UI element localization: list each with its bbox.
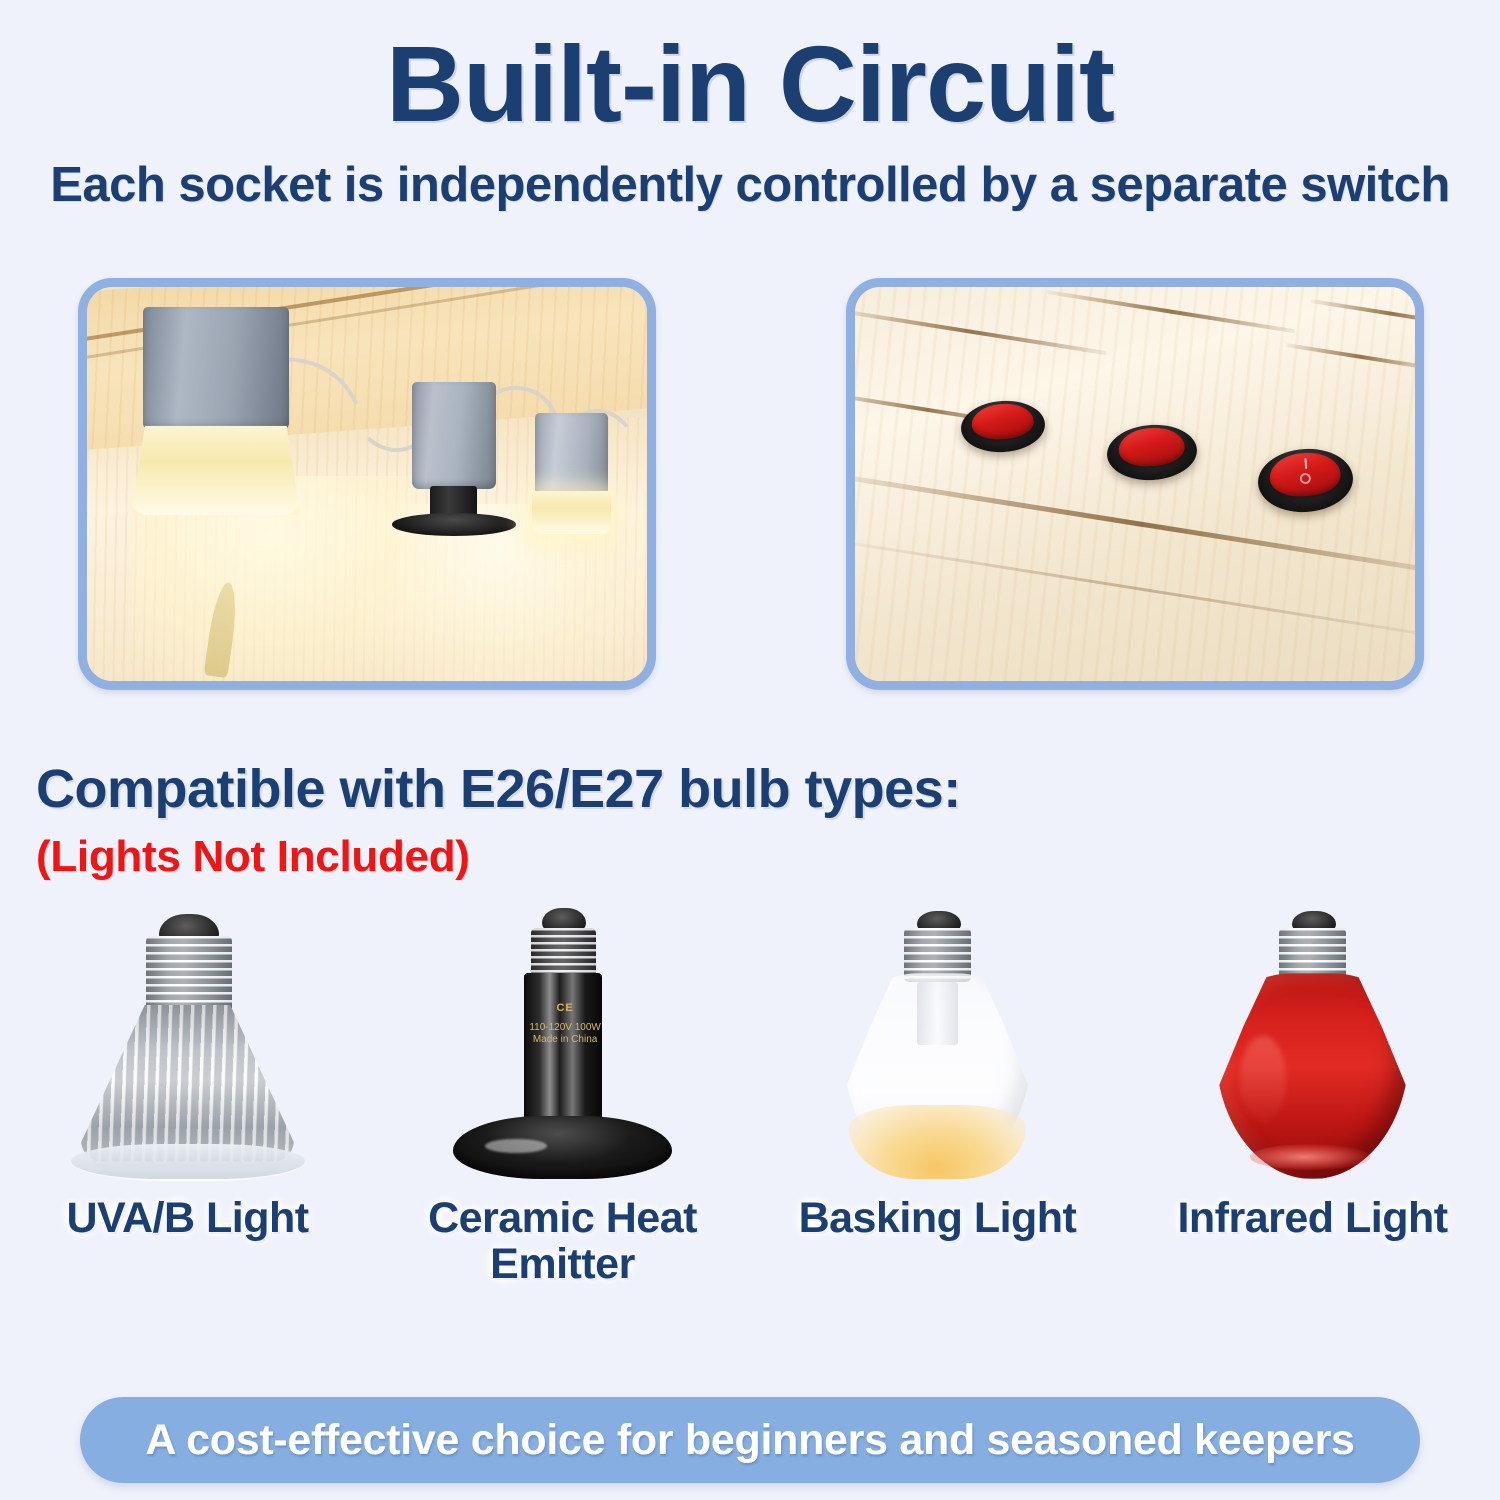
lamp-sockets-photo xyxy=(78,278,656,690)
socket-body xyxy=(143,307,289,430)
photo-row xyxy=(0,278,1500,693)
bulb-cell-ceramic-heat-emitter: CE 110-120V 100W Made in China Ceramic H… xyxy=(375,905,750,1305)
lights-not-included-note: (Lights Not Included) xyxy=(36,832,470,882)
lit-bulb xyxy=(131,426,300,515)
vent-groove xyxy=(1310,299,1415,328)
filament-shadow xyxy=(917,982,959,1045)
vent-groove xyxy=(1285,343,1415,370)
ceramic-heat-emitter-icon: CE 110-120V 100W Made in China xyxy=(433,905,693,1190)
lamp-sockets-scene xyxy=(87,287,647,681)
switch-off-marking-icon xyxy=(1300,473,1312,485)
switch-on-marking-icon xyxy=(1304,457,1307,468)
emitter-stem xyxy=(524,973,602,1133)
emitter-spec-text: 110-120V 100W Made in China xyxy=(511,1022,620,1047)
lamp-socket xyxy=(535,413,608,539)
reflector-cone xyxy=(81,1005,294,1162)
page-subtitle: Each socket is independently controlled … xyxy=(0,157,1500,213)
vent-groove xyxy=(1047,290,1295,333)
warm-glow xyxy=(849,1105,1026,1179)
switch-panel-scene xyxy=(855,287,1415,681)
glass-bottom-highlight xyxy=(1250,1144,1370,1170)
emitter-voltage-wattage: 110-120V 100W xyxy=(529,1022,601,1033)
socket-base-plate xyxy=(392,513,516,535)
bulb-type-grid: UVA/B Light CE 110-120V 100W Made in Chi… xyxy=(0,905,1500,1305)
header: Built-in Circuit Each socket is independ… xyxy=(0,0,1500,213)
emitter-foot-highlight xyxy=(485,1139,547,1153)
bottom-banner-text: A cost-effective choice for beginners an… xyxy=(145,1416,1354,1465)
glass-highlight xyxy=(1240,1036,1287,1122)
rocker-switches-photo xyxy=(846,278,1424,690)
bulb-cell-basking: Basking Light xyxy=(750,905,1125,1305)
lamp-socket xyxy=(412,382,496,532)
red-infrared-bulb-icon xyxy=(1183,905,1443,1190)
bottom-banner: A cost-effective choice for beginners an… xyxy=(80,1397,1420,1483)
rocker-switch[interactable] xyxy=(960,398,1047,455)
halogen-reflector-bulb-icon xyxy=(58,905,318,1190)
lit-bulb xyxy=(532,491,611,534)
bulb-label-infrared: Infrared Light xyxy=(1177,1196,1447,1242)
reflector-rim xyxy=(71,1144,305,1181)
socket-body xyxy=(412,382,496,490)
bulb-cell-uvab: UVA/B Light xyxy=(0,905,375,1305)
page-title: Built-in Circuit xyxy=(0,26,1500,143)
lamp-socket xyxy=(143,307,289,520)
socket-body xyxy=(535,413,608,496)
emitter-origin: Made in China xyxy=(533,1034,597,1045)
vent-groove xyxy=(855,308,1107,355)
bulb-label-uvab: UVA/B Light xyxy=(66,1196,308,1242)
rocker-switch[interactable] xyxy=(1256,445,1355,515)
rocker-switch[interactable] xyxy=(1105,422,1198,483)
e26-screw-base xyxy=(531,928,596,979)
bulb-label-basking: Basking Light xyxy=(799,1196,1077,1242)
ce-mark-icon: CE xyxy=(526,1002,604,1014)
e26-screw-base xyxy=(146,936,232,1013)
compatibility-heading: Compatible with E26/E27 bulb types: xyxy=(36,758,961,820)
bulb-label-ceramic-heat-emitter: Ceramic Heat Emitter xyxy=(375,1196,750,1287)
bulb-cell-infrared: Infrared Light xyxy=(1125,905,1500,1305)
frosted-basking-bulb-icon xyxy=(808,905,1068,1190)
